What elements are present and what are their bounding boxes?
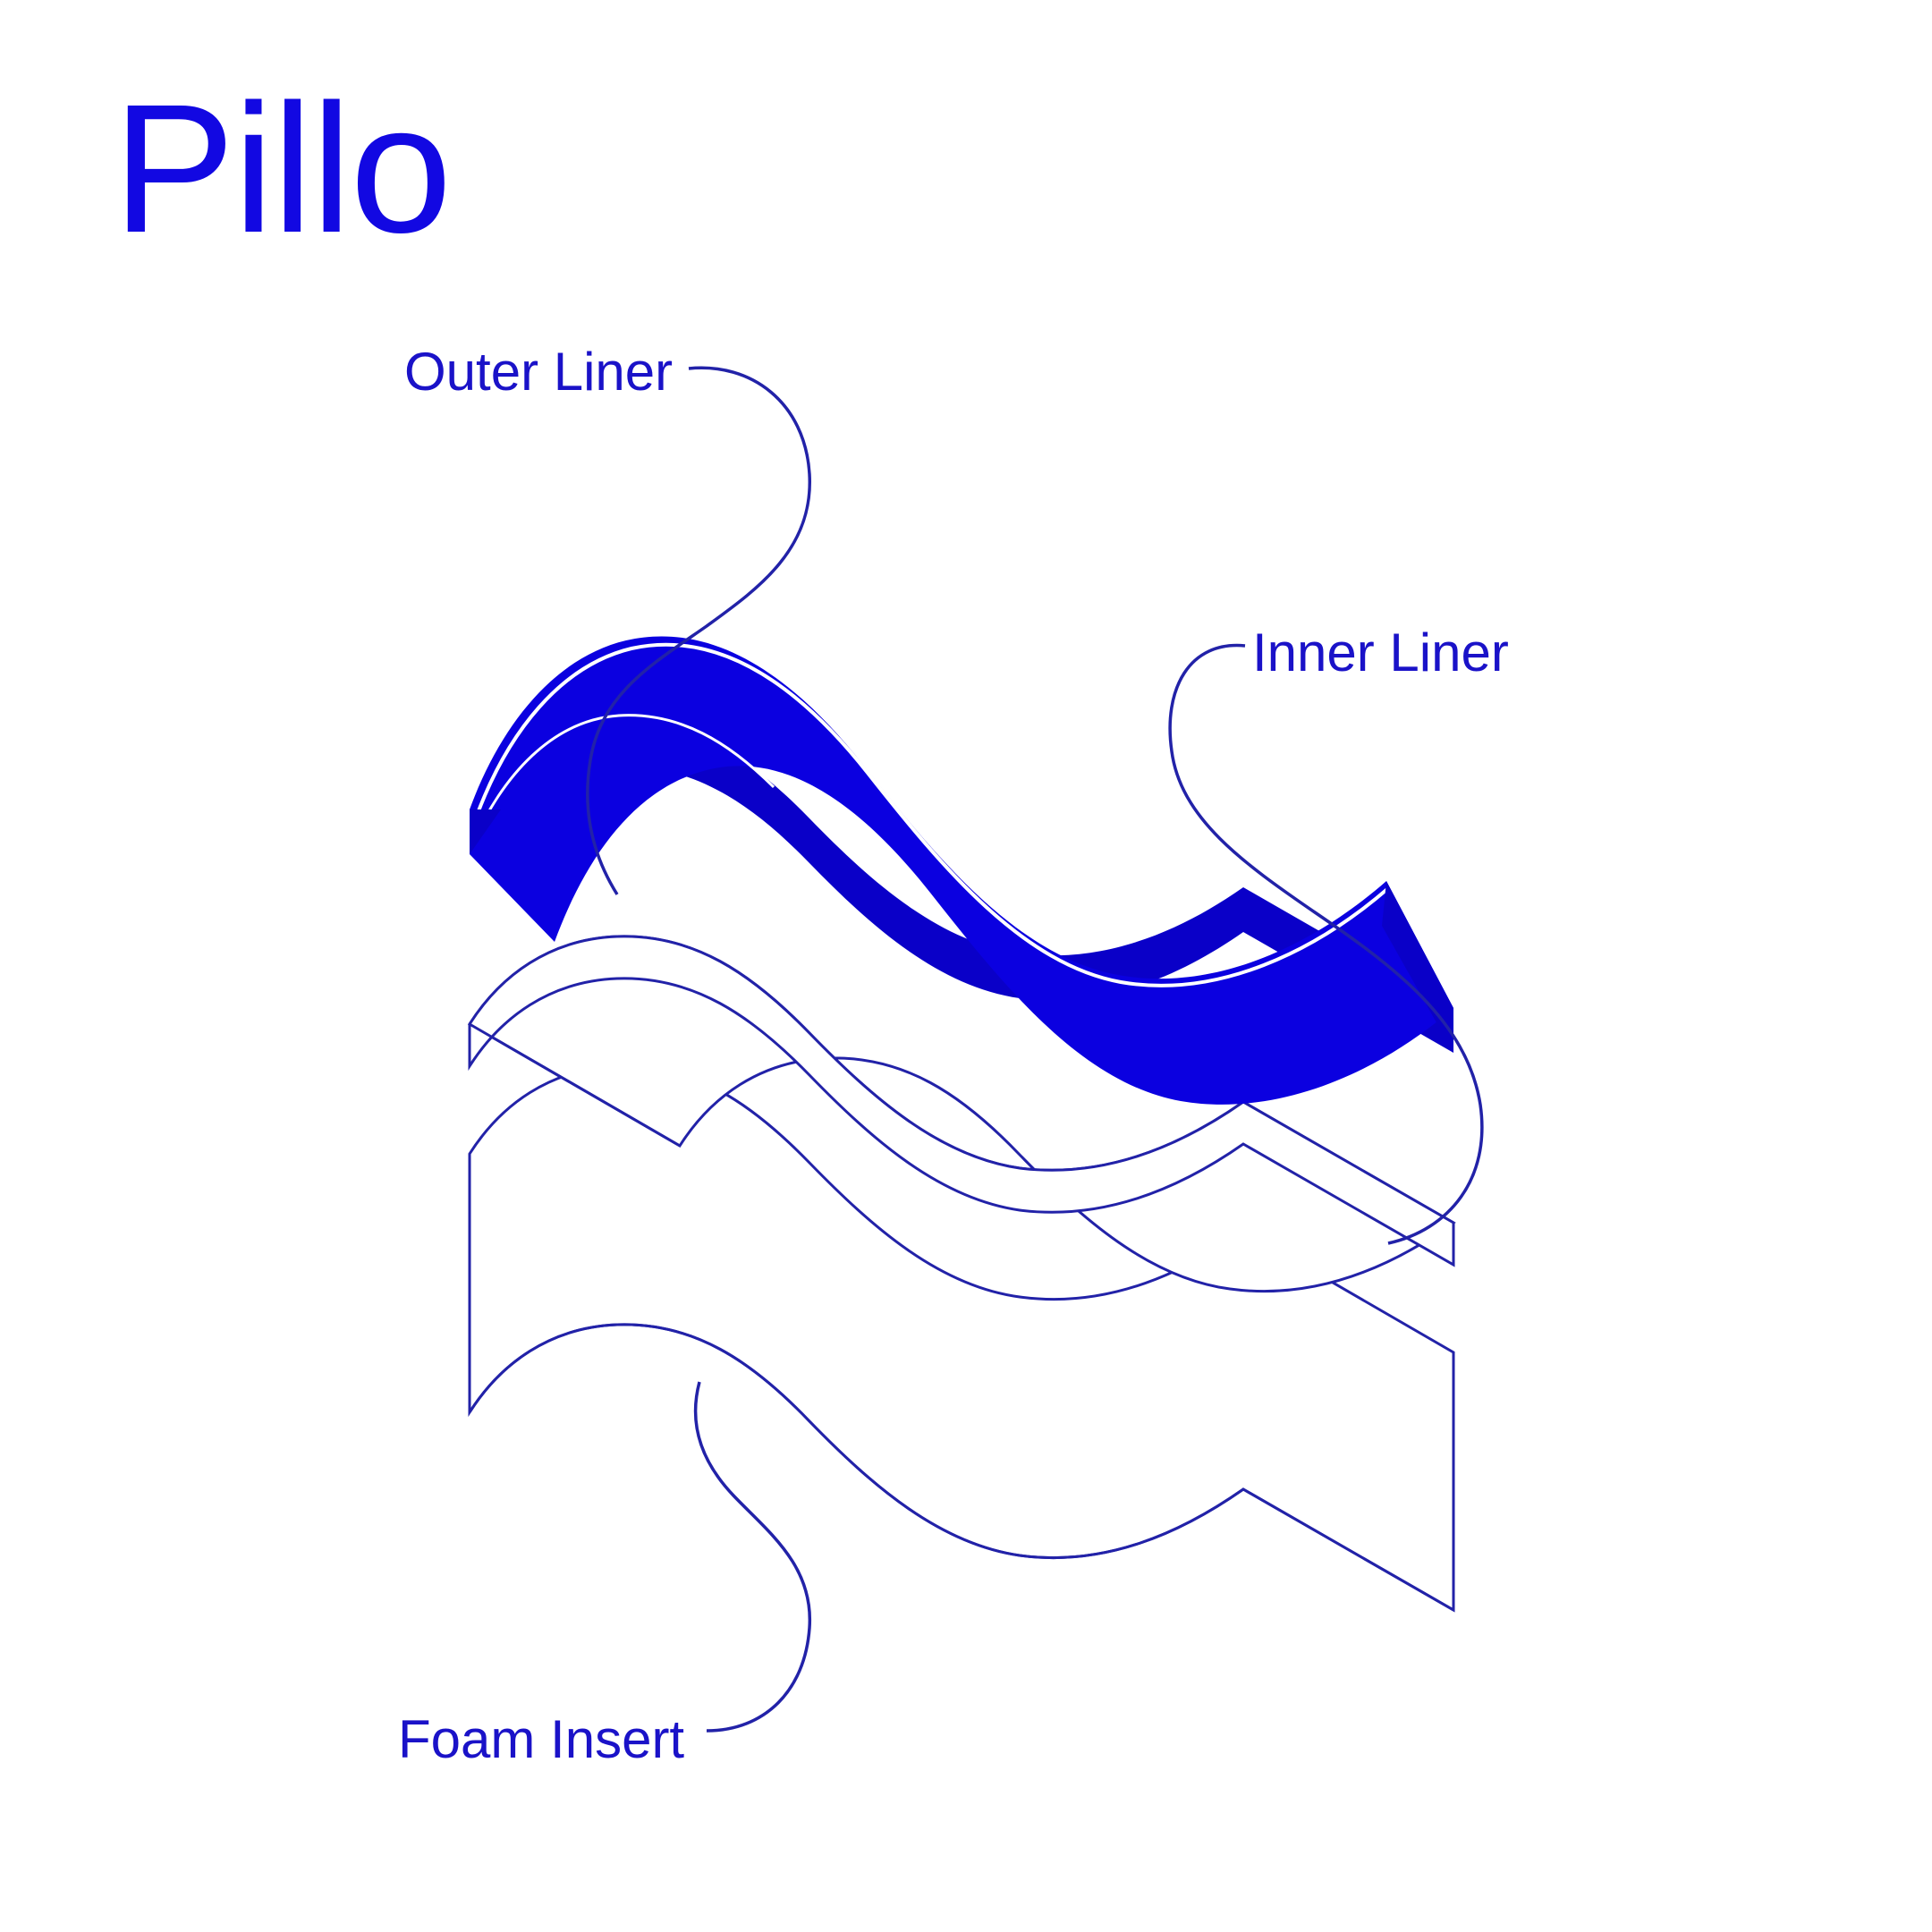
leader-line-foam-insert [696,1382,810,1731]
exploded-layer-diagram [0,0,1932,1932]
callout-label-inner-liner: Inner Liner [1252,626,1509,680]
page-title: Pillo [113,77,450,260]
callout-label-outer-liner: Outer Liner [404,345,673,399]
callout-label-foam-insert: Foam Insert [398,1713,684,1767]
diagram-canvas: Pillo Outer Liner Inner Liner Foam Inser… [0,0,1932,1932]
